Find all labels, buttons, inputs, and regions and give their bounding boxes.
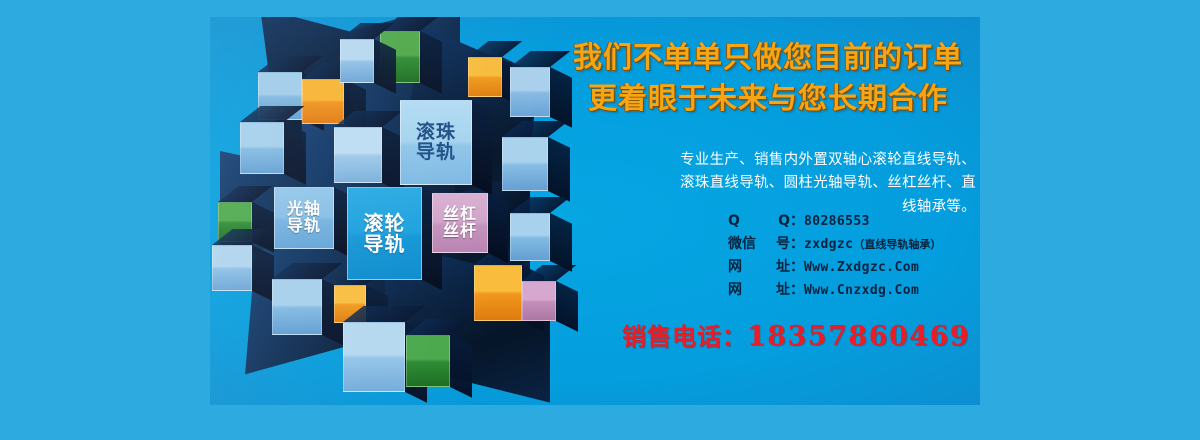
cube-front-face (240, 122, 284, 174)
contact-label-part-b: 址 (776, 260, 790, 274)
cube-explosion-graphic: 滚珠 导轨 光轴 导轨 滚轮 导轨 (210, 17, 555, 405)
cube-front-face (406, 335, 450, 387)
contact-colon: ： (790, 260, 804, 274)
cube-blue-mid-left (240, 122, 284, 174)
cube-orange-top-right (468, 57, 502, 97)
banner-stage: 滚珠 导轨 光轴 导轨 滚轮 导轨 (0, 0, 1200, 440)
cube-side-face (420, 31, 442, 94)
cube-front-face (334, 127, 382, 183)
sales-phone-number[interactable]: 18357860469 (747, 321, 970, 352)
contact-label-part-b: 址 (776, 283, 790, 297)
cube-orange-bottom-right (474, 265, 522, 321)
cube-side-face (450, 335, 472, 398)
cube-blue-right-mid (502, 137, 548, 191)
contact-colon: ： (790, 283, 804, 297)
cube-side-face (284, 122, 306, 185)
cube-blue-center-pale (334, 127, 382, 183)
description: 专业生产、销售内外置双轴心滚轮直线导轨、 滚珠直线导轨、圆柱光轴导轨、丝杠丝杆、… (614, 149, 976, 219)
labeled-cube-ball-guide-rail: 滚珠 导轨 (400, 100, 472, 185)
cube-top-face (468, 41, 522, 57)
cube-label-line2: 导轨 (416, 143, 456, 163)
labeled-cube-roller-guide-rail: 滚轮 导轨 (347, 187, 422, 280)
cube-side-face (472, 100, 492, 195)
contact-colon: ： (790, 237, 804, 251)
cube-front-face (212, 245, 252, 291)
contact-label-part-a: Q (728, 214, 740, 228)
cube-front-face (302, 79, 344, 124)
cube-front-face (468, 57, 502, 97)
cube-front-face (474, 265, 522, 321)
cube-front-face: 丝杠 丝杆 (432, 193, 488, 253)
contact-colon: ： (790, 214, 804, 228)
cube-front-face: 滚轮 导轨 (347, 187, 422, 280)
description-line-2: 滚珠直线导轨、圆柱光轴导轨、丝杠丝杆、直 (614, 172, 976, 195)
cube-blue-bottom-center (343, 322, 405, 392)
cube-front-face (510, 67, 550, 117)
contact-label-part-b: Q (778, 214, 790, 228)
sales-phone-label: 销售电话： (622, 317, 747, 352)
contact-value-website-2[interactable]: Www.Cnzxdg.Com (804, 284, 919, 297)
cube-front-face (502, 137, 548, 191)
contact-block: Q Q ： 80286553 微信 号 ： zxdgzc （直线导轨轴承） (728, 214, 980, 306)
cube-front-face: 光轴 导轨 (274, 187, 334, 249)
labeled-cube-lead-screw: 丝杠 丝杆 (432, 193, 488, 253)
contact-label: 网 址 (728, 260, 790, 274)
cube-front-face (510, 213, 550, 261)
cube-blue-right-top (510, 67, 550, 117)
cube-label-line2: 导轨 (287, 218, 321, 235)
cube-orange-upper (302, 79, 344, 124)
contact-row-website-1: 网 址 ： Www.Zxdgzc.Com (728, 260, 980, 274)
contact-row-website-2: 网 址 ： Www.Cnzxdg.Com (728, 283, 980, 297)
sales-phone[interactable]: 销售电话： 18357860469 (622, 317, 980, 352)
contact-label-part-a: 微信 (728, 237, 756, 251)
cube-blue-lower-left (212, 245, 252, 291)
contact-note-wechat: （直线导轨轴承） (853, 239, 941, 250)
contact-row-qq: Q Q ： 80286553 (728, 214, 980, 228)
contact-label: 微信 号 (728, 237, 790, 251)
banner-text-column: 我们不单单只做您目前的订单 更着眼于未来与您长期合作 专业生产、销售内外置双轴心… (550, 17, 980, 405)
contact-label: 网 址 (728, 283, 790, 297)
cube-blue-bottom-left (272, 279, 322, 335)
headline-line-2: 更着眼于未来与您长期合作 (556, 78, 980, 119)
headline: 我们不单单只做您目前的订单 更着眼于未来与您长期合作 (556, 37, 980, 119)
contact-value-qq[interactable]: 80286553 (804, 215, 870, 228)
cube-front-face (340, 39, 374, 83)
labeled-cube-optical-axis-guide-rail: 光轴 导轨 (274, 187, 334, 249)
cube-label-line1: 滚珠 (416, 123, 456, 143)
cube-blue-top-center (340, 39, 374, 83)
cube-label-line2: 导轨 (364, 234, 406, 255)
cube-front-face: 滚珠 导轨 (400, 100, 472, 185)
contact-value-wechat[interactable]: zxdgzc (804, 238, 853, 251)
contact-value-website-1[interactable]: Www.Zxdgzc.Com (804, 261, 919, 274)
cube-front-face (272, 279, 322, 335)
contact-label-part-a: 网 (728, 260, 742, 274)
description-line-1: 专业生产、销售内外置双轴心滚轮直线导轨、 (614, 149, 976, 172)
cube-side-face (488, 193, 508, 263)
cube-front-face (343, 322, 405, 392)
cube-label-line1: 滚轮 (364, 213, 406, 234)
cube-blue-right-lower (510, 213, 550, 261)
headline-line-1: 我们不单单只做您目前的订单 (556, 37, 980, 78)
contact-label-part-b: 号 (776, 237, 790, 251)
contact-label-part-a: 网 (728, 283, 742, 297)
contact-label: Q Q (728, 214, 790, 228)
contact-row-wechat: 微信 号 ： zxdgzc （直线导轨轴承） (728, 237, 980, 251)
promo-banner: 滚珠 导轨 光轴 导轨 滚轮 导轨 (210, 17, 980, 405)
cube-label-line2: 丝杆 (443, 223, 477, 240)
cube-green-bottom (406, 335, 450, 387)
